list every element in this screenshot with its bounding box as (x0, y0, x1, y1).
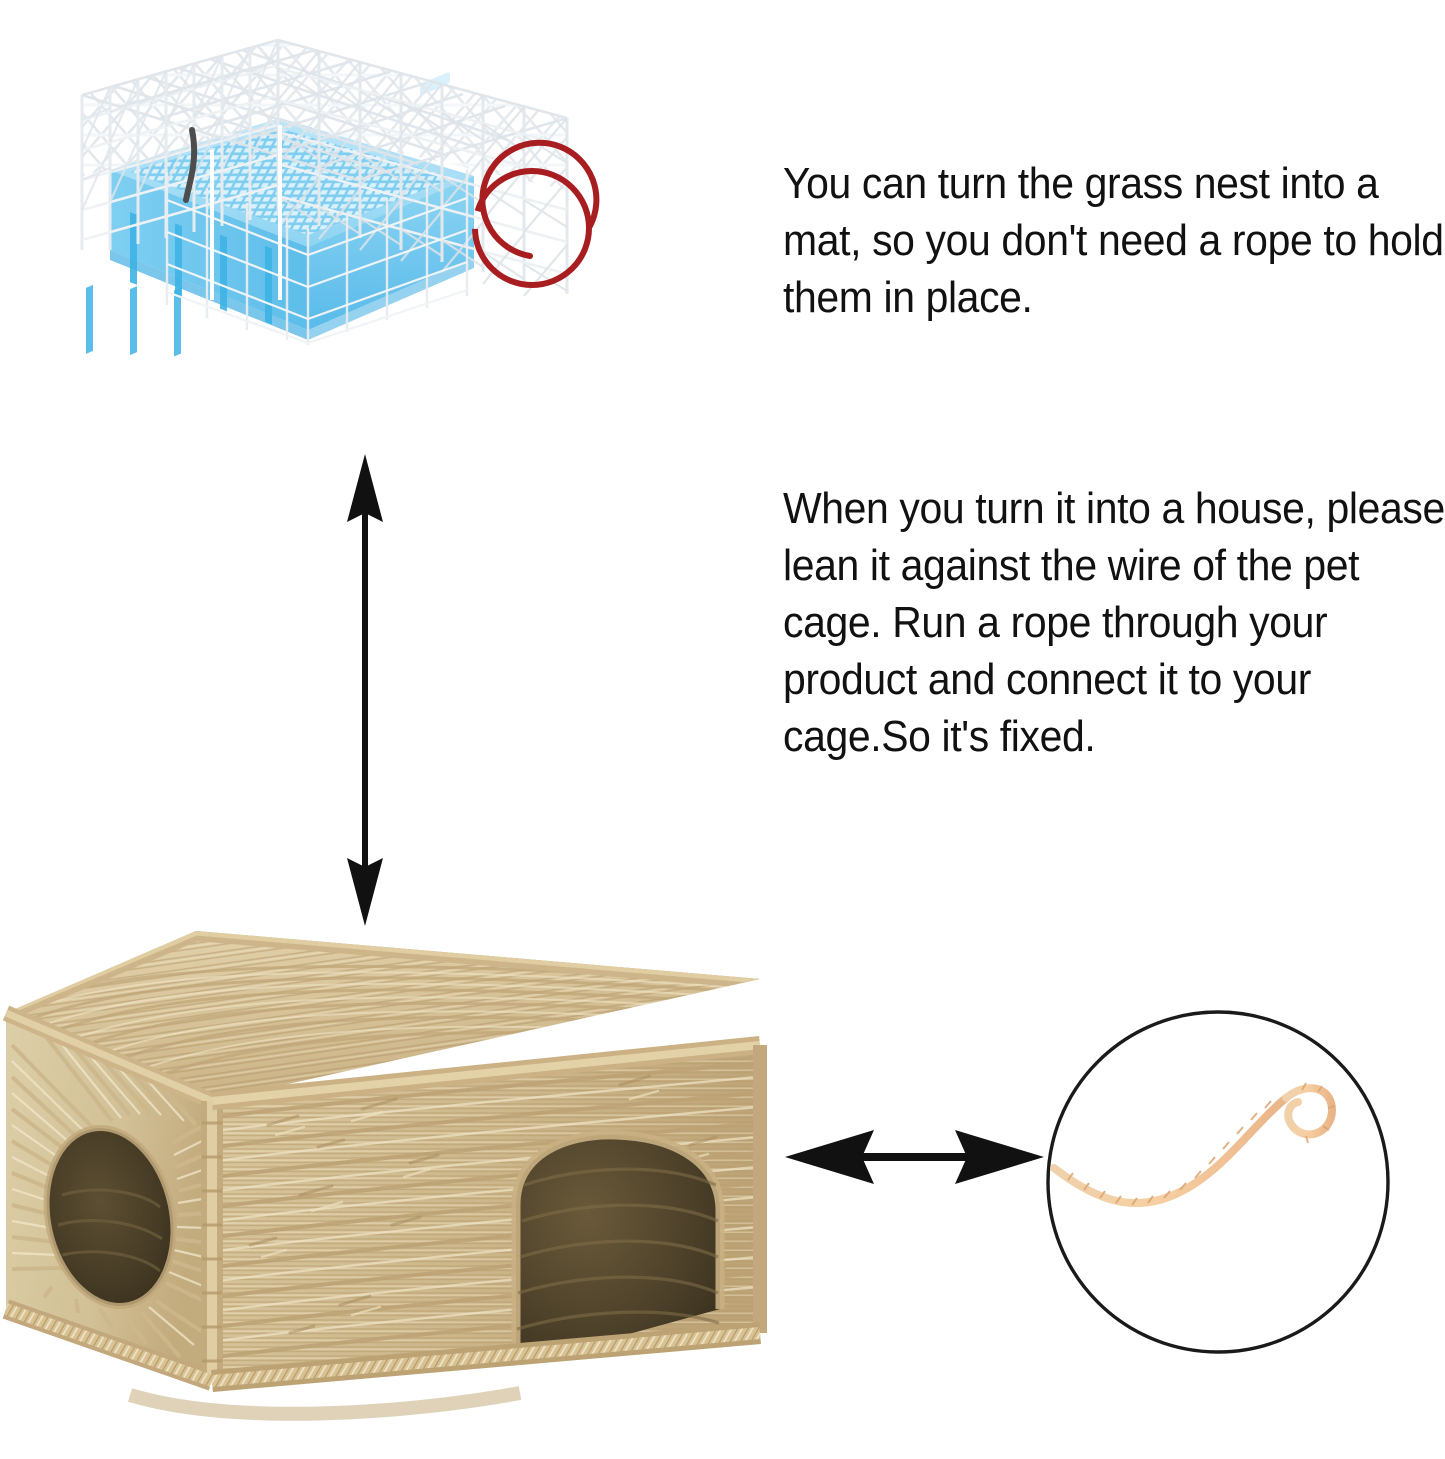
grass-house-illustration (0, 895, 775, 1454)
grass-nest-house-figure (0, 895, 775, 1454)
instruction-paragraph-2: When you turn it into a house, please le… (783, 480, 1445, 765)
pet-cage-illustration (62, 0, 602, 420)
grass-house-corner-post (202, 1101, 222, 1381)
horizontal-double-arrow-icon (782, 1120, 1047, 1195)
infographic-canvas: You can turn the grass nest into a mat, … (0, 0, 1445, 1454)
grass-house-front-face (200, 1035, 775, 1395)
rope-inset-circle (1048, 1012, 1388, 1352)
pet-cage-figure (62, 0, 602, 420)
vertical-double-arrow-icon (330, 450, 400, 930)
instruction-paragraph-1: You can turn the grass nest into a mat, … (783, 155, 1445, 326)
rope-detail-inset (1040, 1006, 1400, 1358)
rope-illustration (1040, 1006, 1400, 1358)
